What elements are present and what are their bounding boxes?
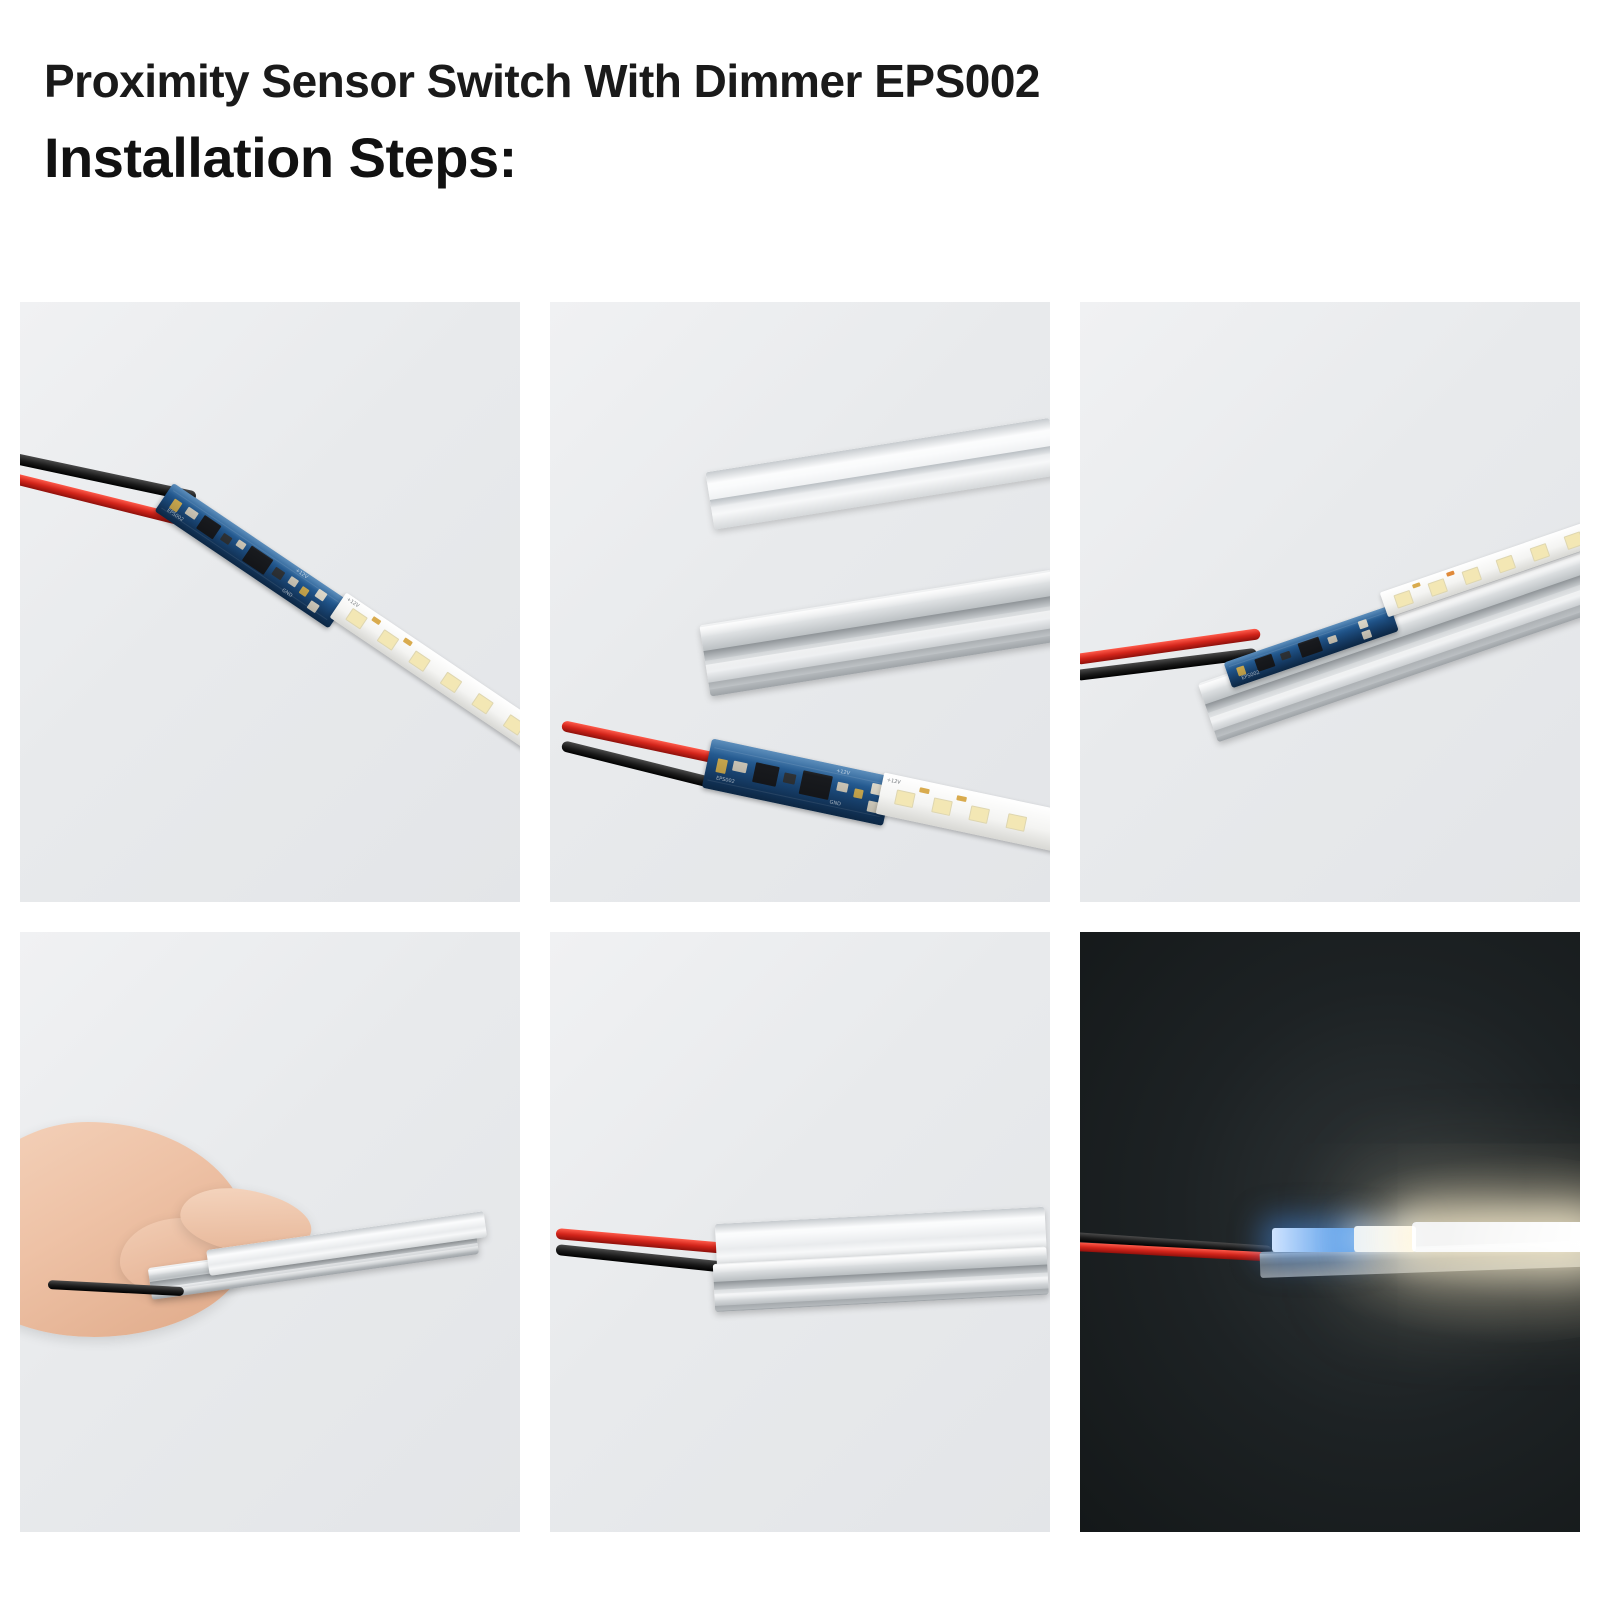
headings-block: Proximity Sensor Switch With Dimmer EPS0…: [44, 56, 1544, 187]
step-photo-6: [1080, 932, 1580, 1532]
blue-led-glow: [1272, 1228, 1356, 1252]
step-photo-5: [550, 932, 1050, 1532]
cool-led-glow: [1354, 1226, 1416, 1252]
step-photo-2: EPS002 GND +12V +12V: [550, 302, 1050, 902]
step-photo-4: [20, 932, 520, 1532]
step-photo-1: EPS002 +12V GND +12V: [20, 302, 520, 902]
page-title: Proximity Sensor Switch With Dimmer EPS0…: [44, 56, 1544, 107]
step-photo-3: EPS002: [1080, 302, 1580, 902]
aluminium-channel: [1198, 544, 1580, 743]
installation-steps-grid: EPS002 +12V GND +12V: [20, 302, 1580, 1580]
warm-led-glow: [1412, 1222, 1580, 1252]
diffuser-cover: [705, 418, 1050, 530]
aluminium-channel: [699, 570, 1050, 697]
led-strip: +12V: [876, 772, 1050, 853]
section-title: Installation Steps:: [44, 129, 1544, 188]
sensor-pcb: EPS002 +12V GND: [154, 483, 347, 629]
product-instruction-page: Proximity Sensor Switch With Dimmer EPS0…: [0, 0, 1600, 1600]
sensor-pcb: EPS002 GND +12V: [702, 739, 893, 826]
led-strip: +12V: [330, 593, 520, 752]
